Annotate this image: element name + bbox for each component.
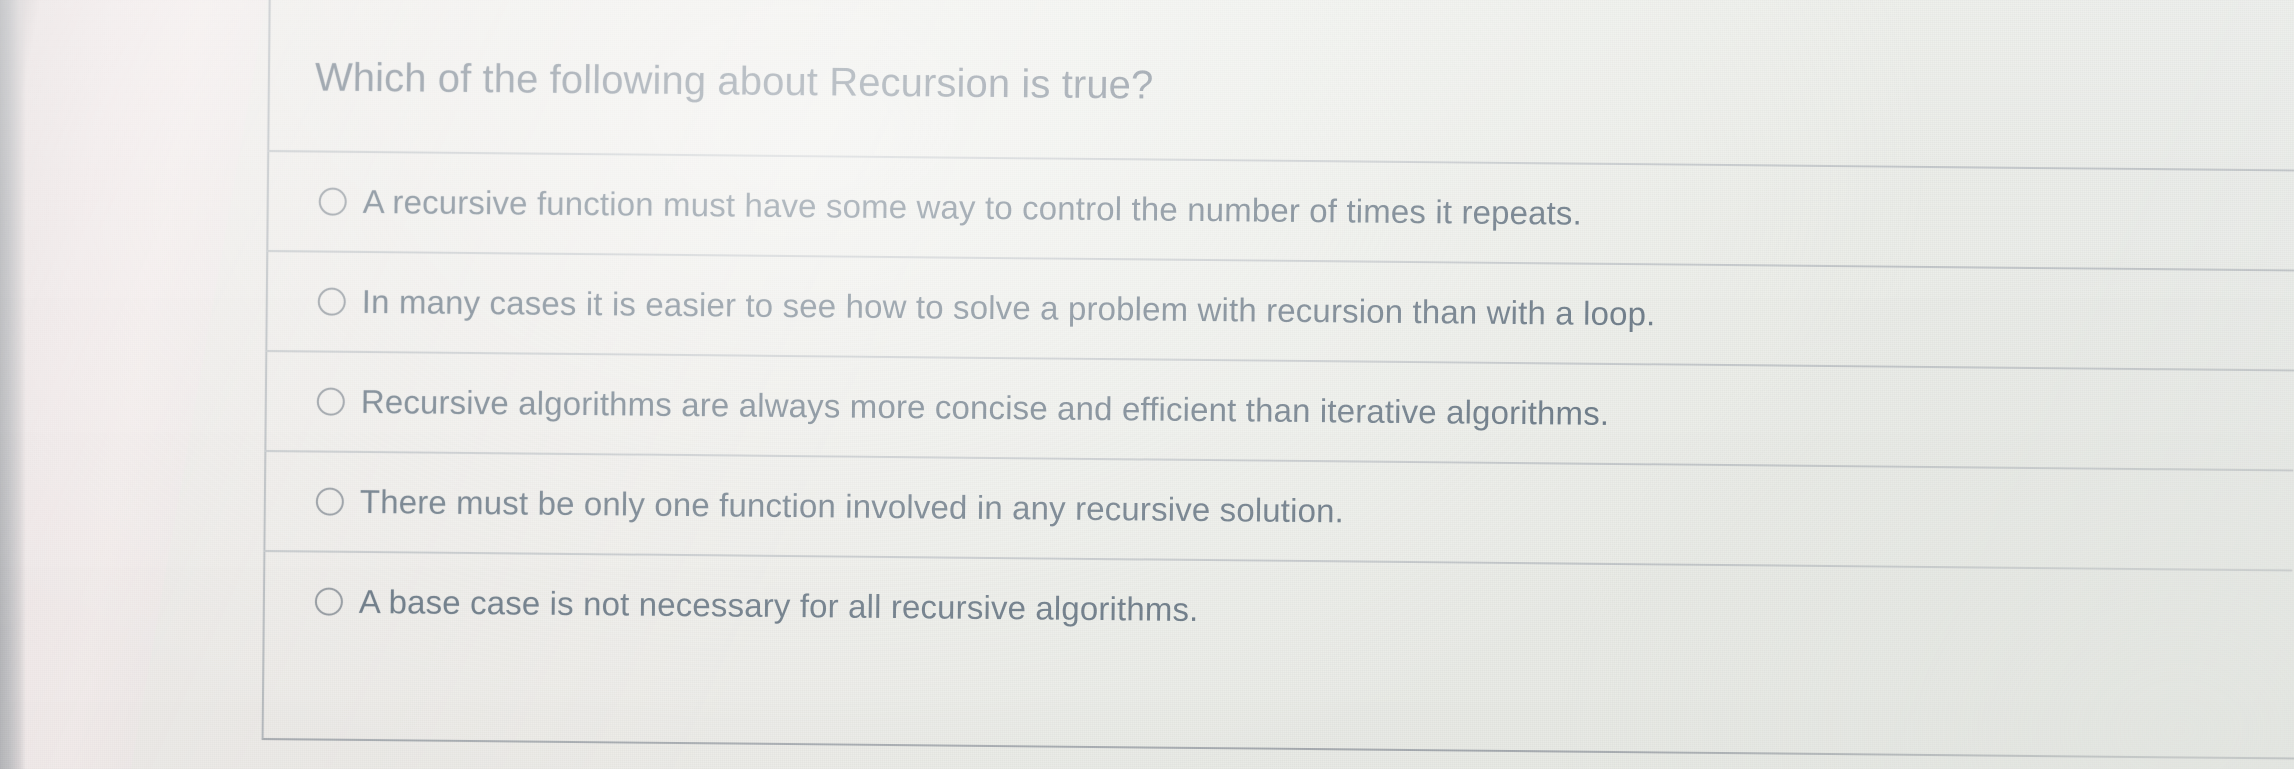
answer-option-4[interactable]: There must be only one function involved…	[263, 450, 2293, 569]
screenshot-photo: Which of the following about Recursion i…	[0, 0, 2294, 769]
answer-option-5[interactable]: A base case is not necessary for all rec…	[262, 550, 2292, 669]
answer-option-label: A recursive function must have some way …	[363, 182, 1583, 233]
answer-options-list: A recursive function must have some way …	[262, 150, 2294, 669]
answer-option-label: In many cases it is easier to see how to…	[362, 282, 1656, 334]
quiz-panel-wrapper: Which of the following about Recursion i…	[0, 0, 2294, 769]
answer-option-label: Recursive algorithms are always more con…	[361, 382, 1610, 434]
question-prompt: Which of the following about Recursion i…	[315, 52, 1154, 110]
answer-option-1[interactable]: A recursive function must have some way …	[266, 150, 2294, 269]
radio-unselected-icon[interactable]	[315, 587, 343, 615]
radio-unselected-icon[interactable]	[316, 487, 344, 515]
answer-option-2[interactable]: In many cases it is easier to see how to…	[265, 250, 2294, 369]
answer-option-label: A base case is not necessary for all rec…	[359, 582, 1199, 630]
answer-option-label: There must be only one function involved…	[360, 482, 1344, 531]
photo-left-edge-shadow	[0, 0, 26, 769]
answer-option-3[interactable]: Recursive algorithms are always more con…	[264, 350, 2294, 469]
radio-unselected-icon[interactable]	[317, 387, 345, 415]
radio-unselected-icon[interactable]	[319, 188, 347, 216]
radio-unselected-icon[interactable]	[318, 288, 346, 316]
